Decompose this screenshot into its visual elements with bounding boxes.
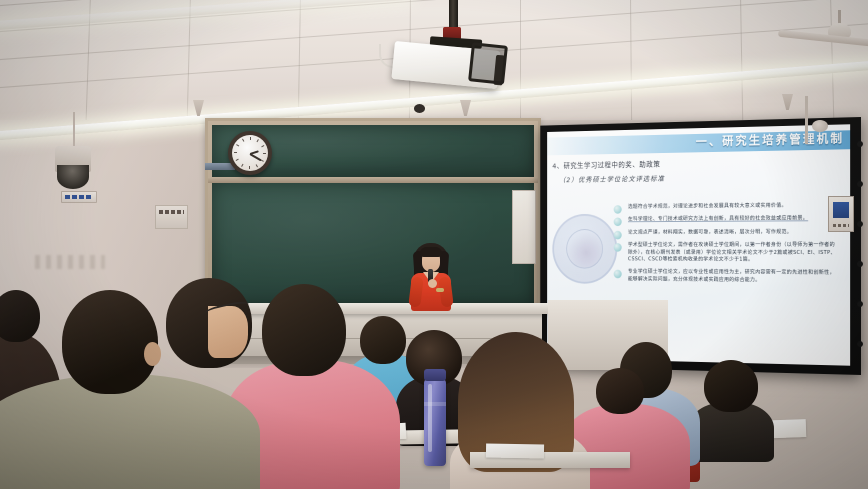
bullet-dot-icon — [614, 205, 622, 214]
wall-marking — [35, 255, 105, 269]
surveillance-notice-sign — [61, 191, 97, 203]
list-item: 在科学理论、专门技术或研究方法上有创新，具有较好的社会效益或应用前景。 — [614, 216, 841, 224]
bullet-text: 学术型硕士学位论文，需作者在攻读硕士学位期间，以第一作者身份（以导师为第一作者的… — [628, 242, 840, 264]
slide-heading-1: 4、研究生学习过程中的奖、助政策 — [552, 160, 660, 171]
wall-outlet-plate — [155, 205, 188, 229]
whiteboard-strip — [512, 190, 536, 264]
bottle-highlight — [428, 384, 432, 452]
bullet-text: 在科学理论、专门技术或研究方法上有创新，具有较好的社会效益或应用前景。 — [628, 216, 840, 224]
clock-face — [232, 135, 268, 171]
presenter-bangs — [420, 247, 442, 257]
slide-heading-2: （2）优秀硕士学位论文评选标准 — [559, 174, 665, 185]
emergency-exit-sign — [828, 196, 854, 232]
ceiling-speaker — [414, 104, 425, 113]
presenter-arm-right — [438, 276, 454, 307]
student-far-right — [690, 360, 770, 450]
presenter-watch — [436, 288, 444, 292]
camera-wire — [73, 112, 75, 148]
slide-title: 一、研究生培养管理机制 — [696, 129, 844, 149]
bullet-text: 选题符合学术规范，对理论进步和社会发展具有较大意义或实用价值。 — [628, 202, 840, 211]
clock-minute-hand — [250, 153, 262, 161]
list-item: 选题符合学术规范，对理论进步和社会发展具有较大意义或实用价值。 — [614, 202, 841, 211]
student-beige-shirt — [10, 296, 250, 489]
wall-conduit — [805, 96, 808, 144]
list-item: 论文观点严谨，材料翔实，数据可靠，表述清晰，层次分明，写作规范。 — [614, 229, 841, 237]
camera-dome — [57, 165, 89, 189]
bullet-dot-icon — [614, 243, 622, 252]
bullet-dot-icon — [614, 231, 622, 240]
presenter — [404, 243, 458, 309]
bullet-dot-icon — [614, 270, 622, 279]
classroom-photo-scene: 一、研究生培养管理机制 4、研究生学习过程中的奖、助政策 （2）优秀硕士学位论文… — [0, 0, 868, 489]
presenter-hand — [428, 279, 437, 288]
projector-bracket — [468, 42, 508, 85]
wall-clock — [228, 131, 272, 175]
list-item: 学术型硕士学位论文，需作者在攻读硕士学位期间，以第一作者身份（以导师为第一作者的… — [614, 242, 841, 264]
bullet-text: 论文观点严谨，材料翔实，数据可靠，表述清晰，层次分明，写作规范。 — [628, 229, 840, 237]
wall-fixture — [812, 120, 828, 132]
slide-bullet-list: 选题符合学术规范，对理论进步和社会发展具有较大意义或实用价值。 在科学理论、专门… — [614, 202, 841, 291]
water-bottle — [424, 378, 446, 466]
bottle-cap — [424, 369, 446, 381]
university-seal-icon — [552, 214, 617, 284]
bullet-dot-icon — [614, 218, 622, 227]
list-item: 专业学位硕士学位论文，应以专业性或应用性为主，研究内容需有一定的先进性和创新性，… — [614, 269, 841, 285]
notebook-paper — [486, 443, 544, 458]
bullet-text: 专业学位硕士学位论文，应以专业性或应用性为主，研究内容需有一定的先进性和创新性，… — [628, 269, 840, 285]
